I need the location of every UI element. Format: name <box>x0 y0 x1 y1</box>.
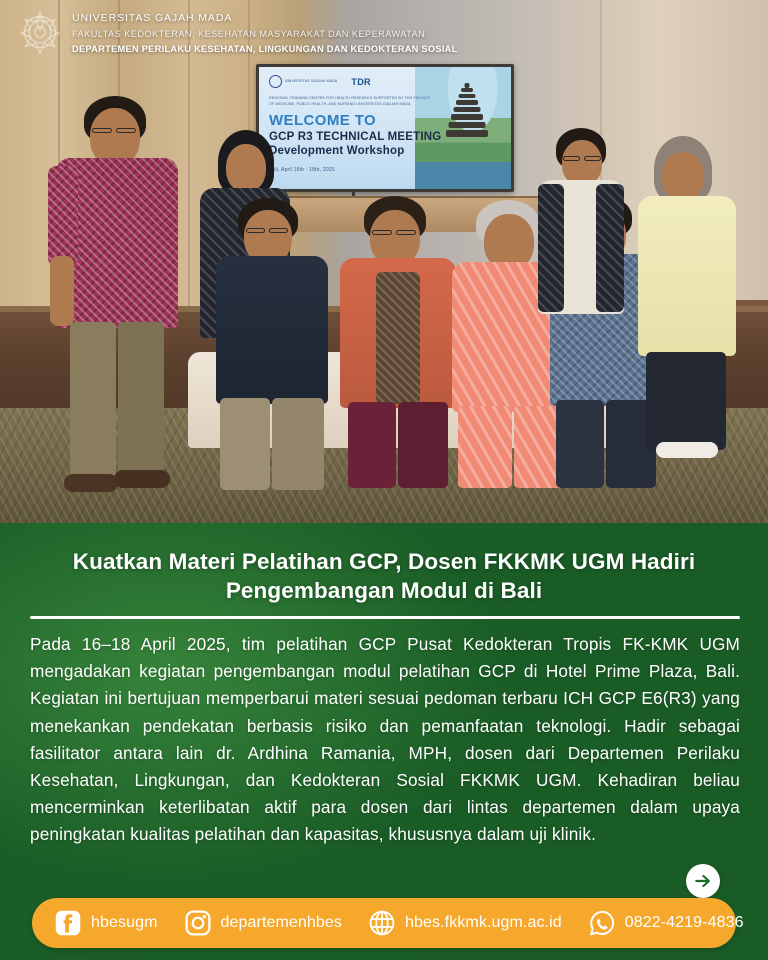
person-standing-hijab-right <box>636 136 740 466</box>
contact-instagram-label: departemenhbes <box>221 914 343 932</box>
globe-icon <box>368 909 396 937</box>
header-line-faculty: FAKULTAS KEDOKTERAN, KESEHATAN MASYARAKA… <box>72 27 458 42</box>
whatsapp-icon <box>588 909 616 937</box>
article-body: Pada 16–18 April 2025, tim pelatihan GCP… <box>30 631 740 848</box>
slide-title-line1: GCP R3 TECHNICAL MEETING <box>269 131 441 143</box>
pagoda-icon <box>445 83 489 153</box>
person-seated-navy <box>212 198 334 488</box>
person-standing-left <box>48 96 188 496</box>
brand-header: UNIVERSITAS GAJAH MADA FAKULTAS KEDOKTER… <box>0 0 768 62</box>
slide-welcome: WELCOME TO <box>269 112 376 129</box>
contact-facebook[interactable]: hbesugm <box>54 909 158 937</box>
slide-logos: UNIVERSITAS GADJAH MADA TDR <box>269 75 371 88</box>
event-photo: UNIVERSITAS GADJAH MADA TDR REGIONAL TRA… <box>0 0 768 528</box>
instagram-icon <box>184 909 212 937</box>
slide-bali-image <box>415 67 511 189</box>
next-slide-button[interactable] <box>686 864 720 898</box>
contact-website[interactable]: hbes.fkkmk.ugm.ac.id <box>368 909 562 937</box>
contact-instagram[interactable]: departemenhbes <box>184 909 343 937</box>
ugm-seal-icon <box>14 6 66 58</box>
article-panel: Kuatkan Materi Pelatihan GCP, Dosen FKKM… <box>0 523 768 960</box>
poster: UNIVERSITAS GADJAH MADA TDR REGIONAL TRA… <box>0 0 768 960</box>
contact-website-label: hbes.fkkmk.ugm.ac.id <box>405 914 562 932</box>
person-seated-orange <box>338 196 460 488</box>
headline-divider <box>30 616 740 619</box>
contact-phone-label: 0822-4219-4836 <box>625 914 744 932</box>
header-line-university: UNIVERSITAS GAJAH MADA <box>72 11 458 27</box>
projector-screen: UNIVERSITAS GADJAH MADA TDR REGIONAL TRA… <box>256 64 514 192</box>
contact-facebook-label: hbesugm <box>91 914 158 932</box>
slide-org-name: UNIVERSITAS GADJAH MADA <box>285 79 337 84</box>
header-text-block: UNIVERSITAS GAJAH MADA FAKULTAS KEDOKTER… <box>72 11 458 57</box>
slide-subtitle: REGIONAL TRAINING CENTER FOR HEALTH RESE… <box>269 96 434 108</box>
person-standing-vest <box>532 128 628 318</box>
header-line-department: DEPARTEMEN PERILAKU KESEHATAN, LINGKUNGA… <box>72 42 458 57</box>
contact-footer: hbesugm departemenhbes hbes.fkkmk.ugm.ac… <box>32 898 736 948</box>
slide-partner-logo: TDR <box>351 77 370 87</box>
article-headline: Kuatkan Materi Pelatihan GCP, Dosen FKKM… <box>24 547 744 606</box>
facebook-icon <box>54 909 82 937</box>
contact-whatsapp[interactable]: 0822-4219-4836 <box>588 909 744 937</box>
arrow-right-icon <box>693 871 713 891</box>
slide-ugm-logo-icon <box>269 75 282 88</box>
